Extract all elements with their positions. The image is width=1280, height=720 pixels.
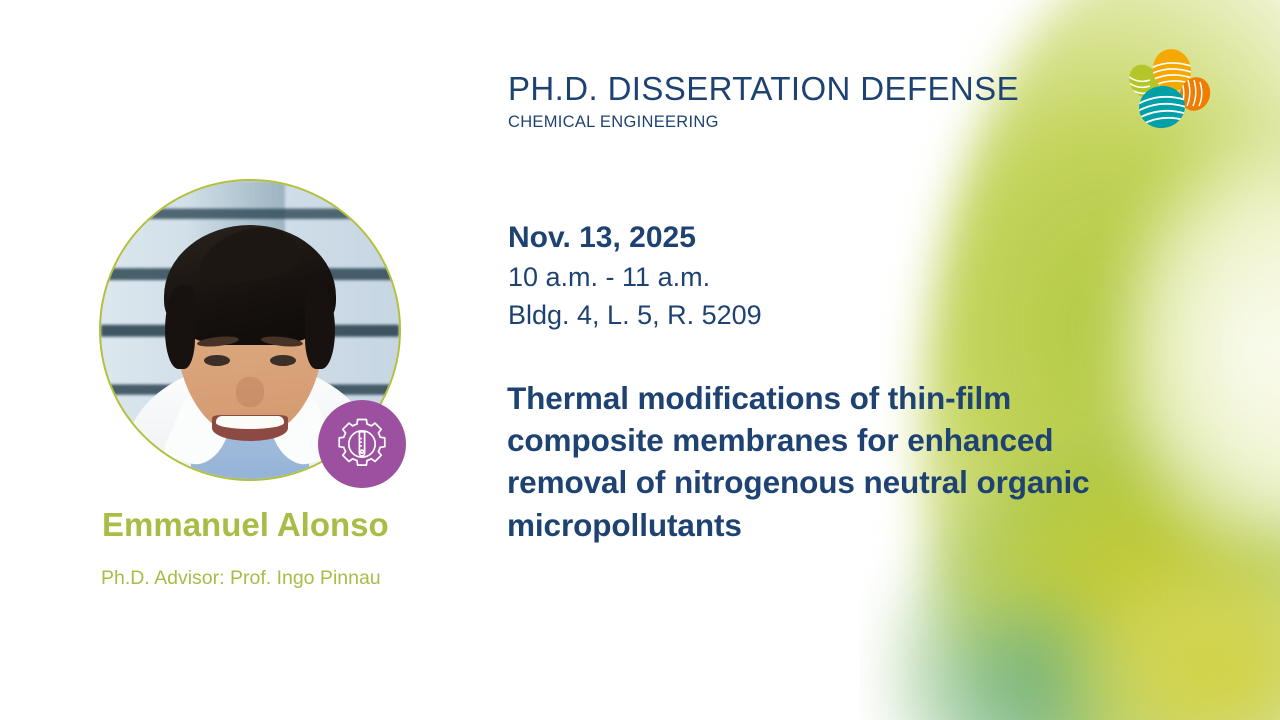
- gradient-blob-teal: [900, 600, 1150, 720]
- gradient-blob-yellow: [1070, 560, 1280, 720]
- kaust-logo: [1122, 48, 1214, 132]
- page-title: PH.D. DISSERTATION DEFENSE: [508, 72, 1019, 107]
- event-details: Nov. 13, 2025 10 a.m. - 11 a.m. Bldg. 4,…: [508, 218, 762, 334]
- chemical-engineering-badge: [318, 400, 406, 488]
- photo-mouth: [212, 415, 288, 441]
- advisor-label: Ph.D. Advisor: Prof. Ingo Pinnau: [101, 567, 381, 590]
- photo-teeth: [216, 416, 284, 429]
- photo-hair-side-left: [165, 285, 195, 369]
- speaker-name: Emmanuel Alonso: [102, 506, 389, 544]
- photo-eye-right: [270, 355, 296, 366]
- event-location: Bldg. 4, L. 5, R. 5209: [508, 296, 762, 334]
- header: PH.D. DISSERTATION DEFENSE CHEMICAL ENGI…: [508, 72, 1019, 132]
- photo-eye-left: [204, 355, 230, 366]
- thesis-title: Thermal modifications of thin-film compo…: [507, 377, 1147, 546]
- event-time: 10 a.m. - 11 a.m.: [508, 258, 762, 296]
- gear-test-tube-icon: [333, 415, 391, 473]
- department-label: CHEMICAL ENGINEERING: [508, 113, 1019, 132]
- photo-nose: [236, 377, 264, 407]
- dissertation-defense-slide: PH.D. DISSERTATION DEFENSE CHEMICAL ENGI…: [0, 0, 1280, 720]
- event-date: Nov. 13, 2025: [508, 218, 762, 258]
